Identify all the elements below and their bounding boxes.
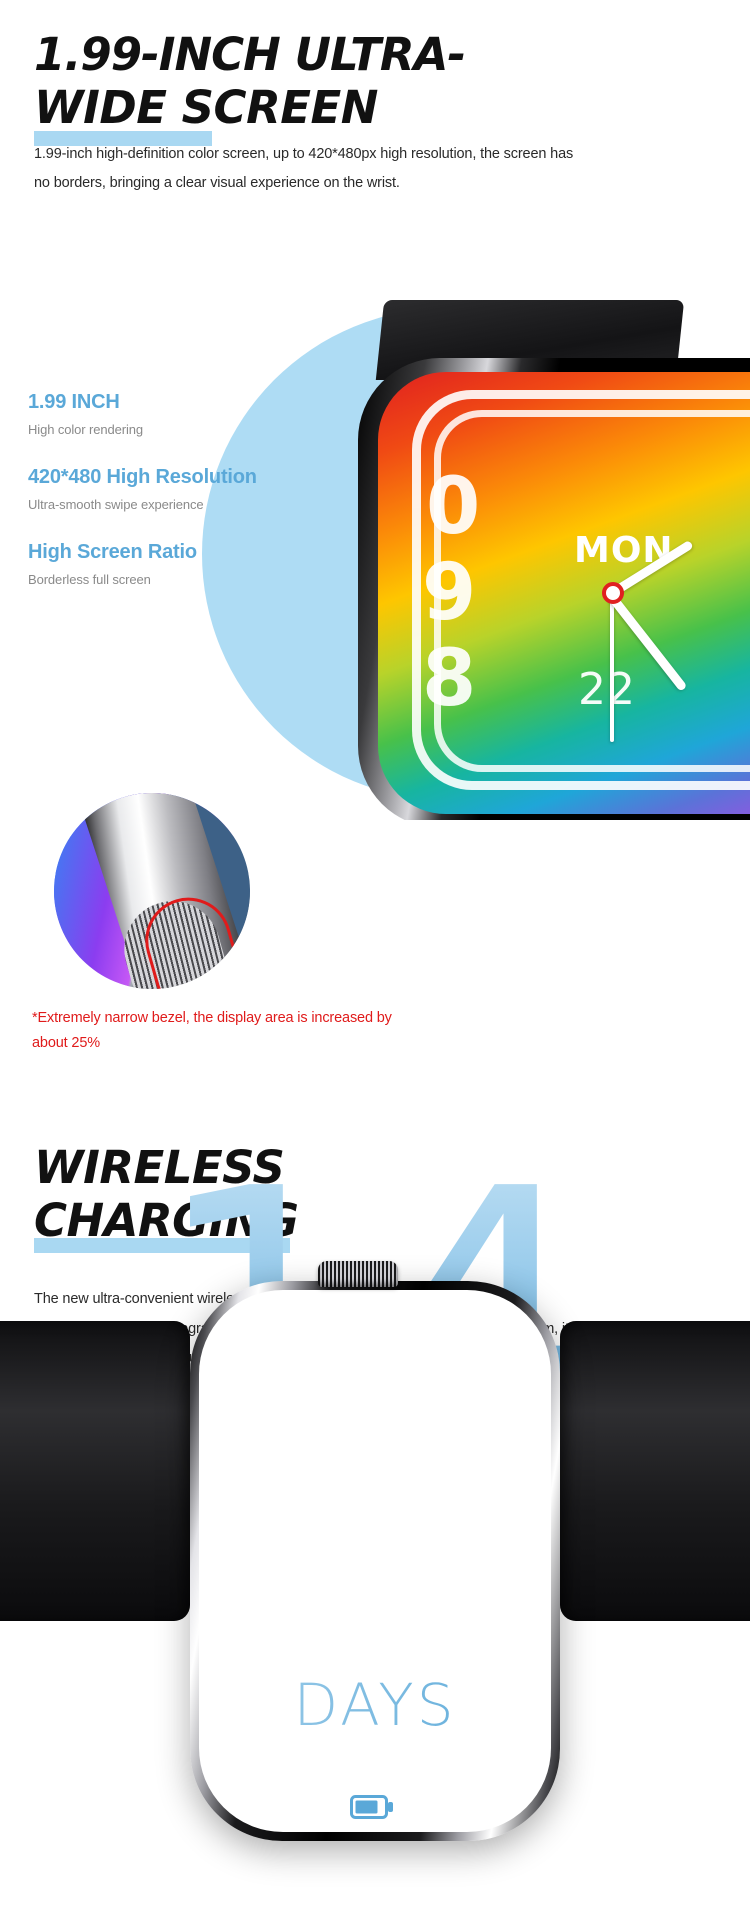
screen-title-line-2: WIDE SCREEN xyxy=(34,85,465,130)
watch-second-hand xyxy=(610,592,614,742)
watch-case-bottom xyxy=(190,1281,560,1841)
screen-section-title: 1.99-INCH ULTRA- WIDE SCREEN xyxy=(34,32,465,130)
dial-inner-ring xyxy=(434,410,750,772)
feature-title: High Screen Ratio xyxy=(28,540,328,565)
screen-title-line-1: 1.99-INCH ULTRA- xyxy=(34,32,465,77)
feature-subtitle: Borderless full screen xyxy=(28,572,328,587)
dial-digit-8: 8 xyxy=(422,640,476,718)
watch-product-photo: 0 9 8 MON 22 xyxy=(352,300,750,820)
feature-item-resolution: 420*480 High Resolution Ultra-smooth swi… xyxy=(28,465,328,512)
feature-subtitle: Ultra-smooth swipe experience xyxy=(28,497,328,512)
dial-digit-9: 9 xyxy=(422,554,476,632)
watch-face-date: 22 xyxy=(578,664,636,715)
watch-crown xyxy=(318,1261,398,1287)
product-landing-page: 1.99-INCH ULTRA- WIDE SCREEN 1.99-inch h… xyxy=(0,0,750,1921)
watch-bottom-photo xyxy=(0,1253,750,1921)
bezel-macro-photo xyxy=(54,793,250,989)
watch-screen: 0 9 8 MON 22 xyxy=(378,372,750,814)
watch-hands-pivot xyxy=(602,582,624,604)
dial-digit-0: 0 xyxy=(426,468,480,546)
feature-item-screen-ratio: High Screen Ratio Borderless full screen xyxy=(28,540,328,587)
narrow-bezel-note: *Extremely narrow bezel, the display are… xyxy=(32,1006,412,1057)
feature-title: 420*480 High Resolution xyxy=(28,465,328,490)
battery-days-unit: DAYS xyxy=(0,1671,750,1739)
feature-title: 1.99 INCH xyxy=(28,390,328,415)
feature-subtitle: High color rendering xyxy=(28,422,328,437)
watch-screen-bottom xyxy=(199,1290,551,1832)
feature-item-inch: 1.99 INCH High color rendering xyxy=(28,390,328,437)
screen-feature-list: 1.99 INCH High color rendering 420*480 H… xyxy=(28,390,328,615)
watch-band-right xyxy=(560,1321,750,1621)
screen-section-body: 1.99-inch high-definition color screen, … xyxy=(34,140,574,198)
watch-band-left xyxy=(0,1321,190,1621)
watch-case: 0 9 8 MON 22 xyxy=(358,358,750,820)
battery-icon xyxy=(350,1795,394,1819)
